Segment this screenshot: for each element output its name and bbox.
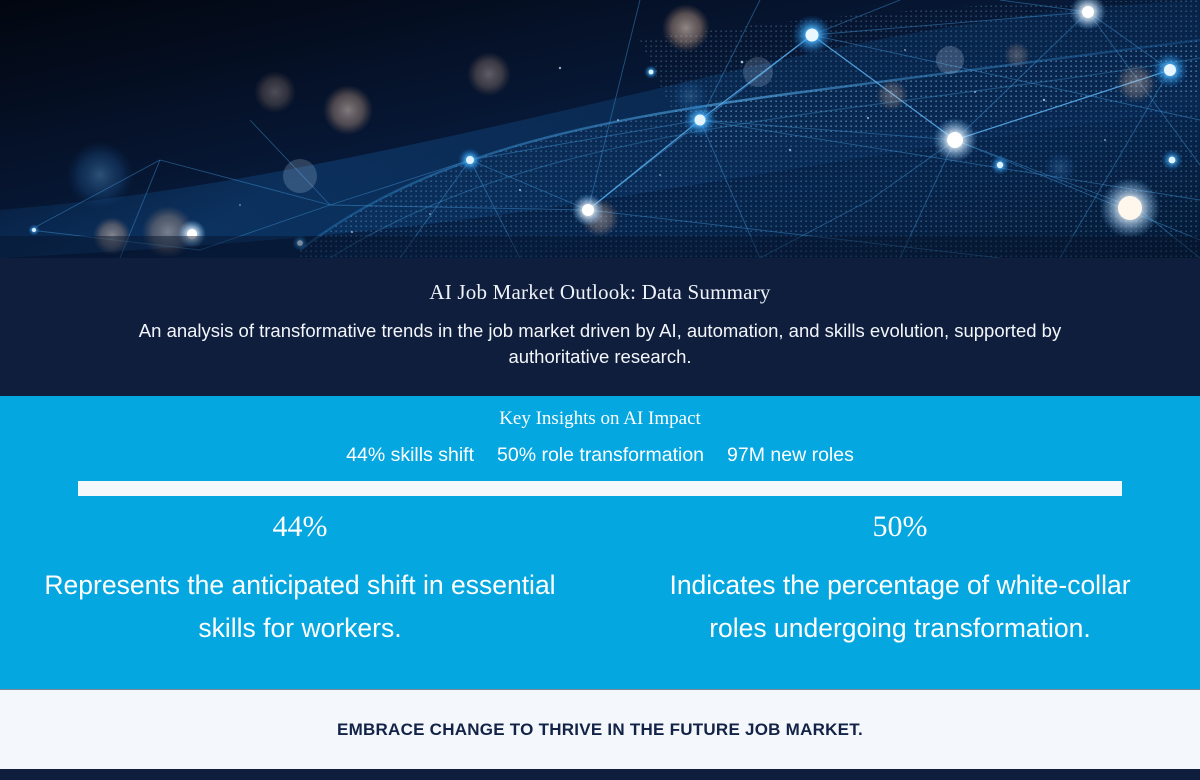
stat-value: 50% bbox=[638, 510, 1162, 543]
stat-card-role-transformation: 50% Indicates the percentage of white-co… bbox=[600, 510, 1200, 650]
keyword-item: 50% role transformation bbox=[497, 444, 704, 467]
keyword-row: 44% skills shift 50% role transformation… bbox=[0, 444, 1200, 467]
header-band: AI Job Market Outlook: Data Summary An a… bbox=[0, 258, 1200, 396]
stats-row: 44% Represents the anticipated shift in … bbox=[0, 510, 1200, 650]
insights-band: Key Insights on AI Impact 44% skills shi… bbox=[0, 396, 1200, 690]
keyword-item: 44% skills shift bbox=[346, 444, 474, 467]
page-title: AI Job Market Outlook: Data Summary bbox=[429, 280, 770, 305]
network-mesh-illustration bbox=[0, 0, 1200, 258]
stat-description: Indicates the percentage of white-collar… bbox=[638, 564, 1162, 650]
stat-description: Represents the anticipated shift in esse… bbox=[38, 564, 562, 650]
keyword-item: 97M new roles bbox=[727, 444, 854, 467]
footer-tagline: EMBRACE CHANGE TO THRIVE IN THE FUTURE J… bbox=[337, 720, 863, 740]
insights-heading: Key Insights on AI Impact bbox=[0, 408, 1200, 430]
hero-network-image bbox=[0, 0, 1200, 258]
stat-value: 44% bbox=[38, 510, 562, 543]
infographic-page: AI Job Market Outlook: Data Summary An a… bbox=[0, 0, 1200, 780]
progress-bar bbox=[78, 481, 1122, 496]
bottom-accent-strip bbox=[0, 769, 1200, 780]
page-subtitle: An analysis of transformative trends in … bbox=[110, 318, 1090, 371]
footer-band: EMBRACE CHANGE TO THRIVE IN THE FUTURE J… bbox=[0, 690, 1200, 769]
stat-card-skills-shift: 44% Represents the anticipated shift in … bbox=[0, 510, 600, 650]
